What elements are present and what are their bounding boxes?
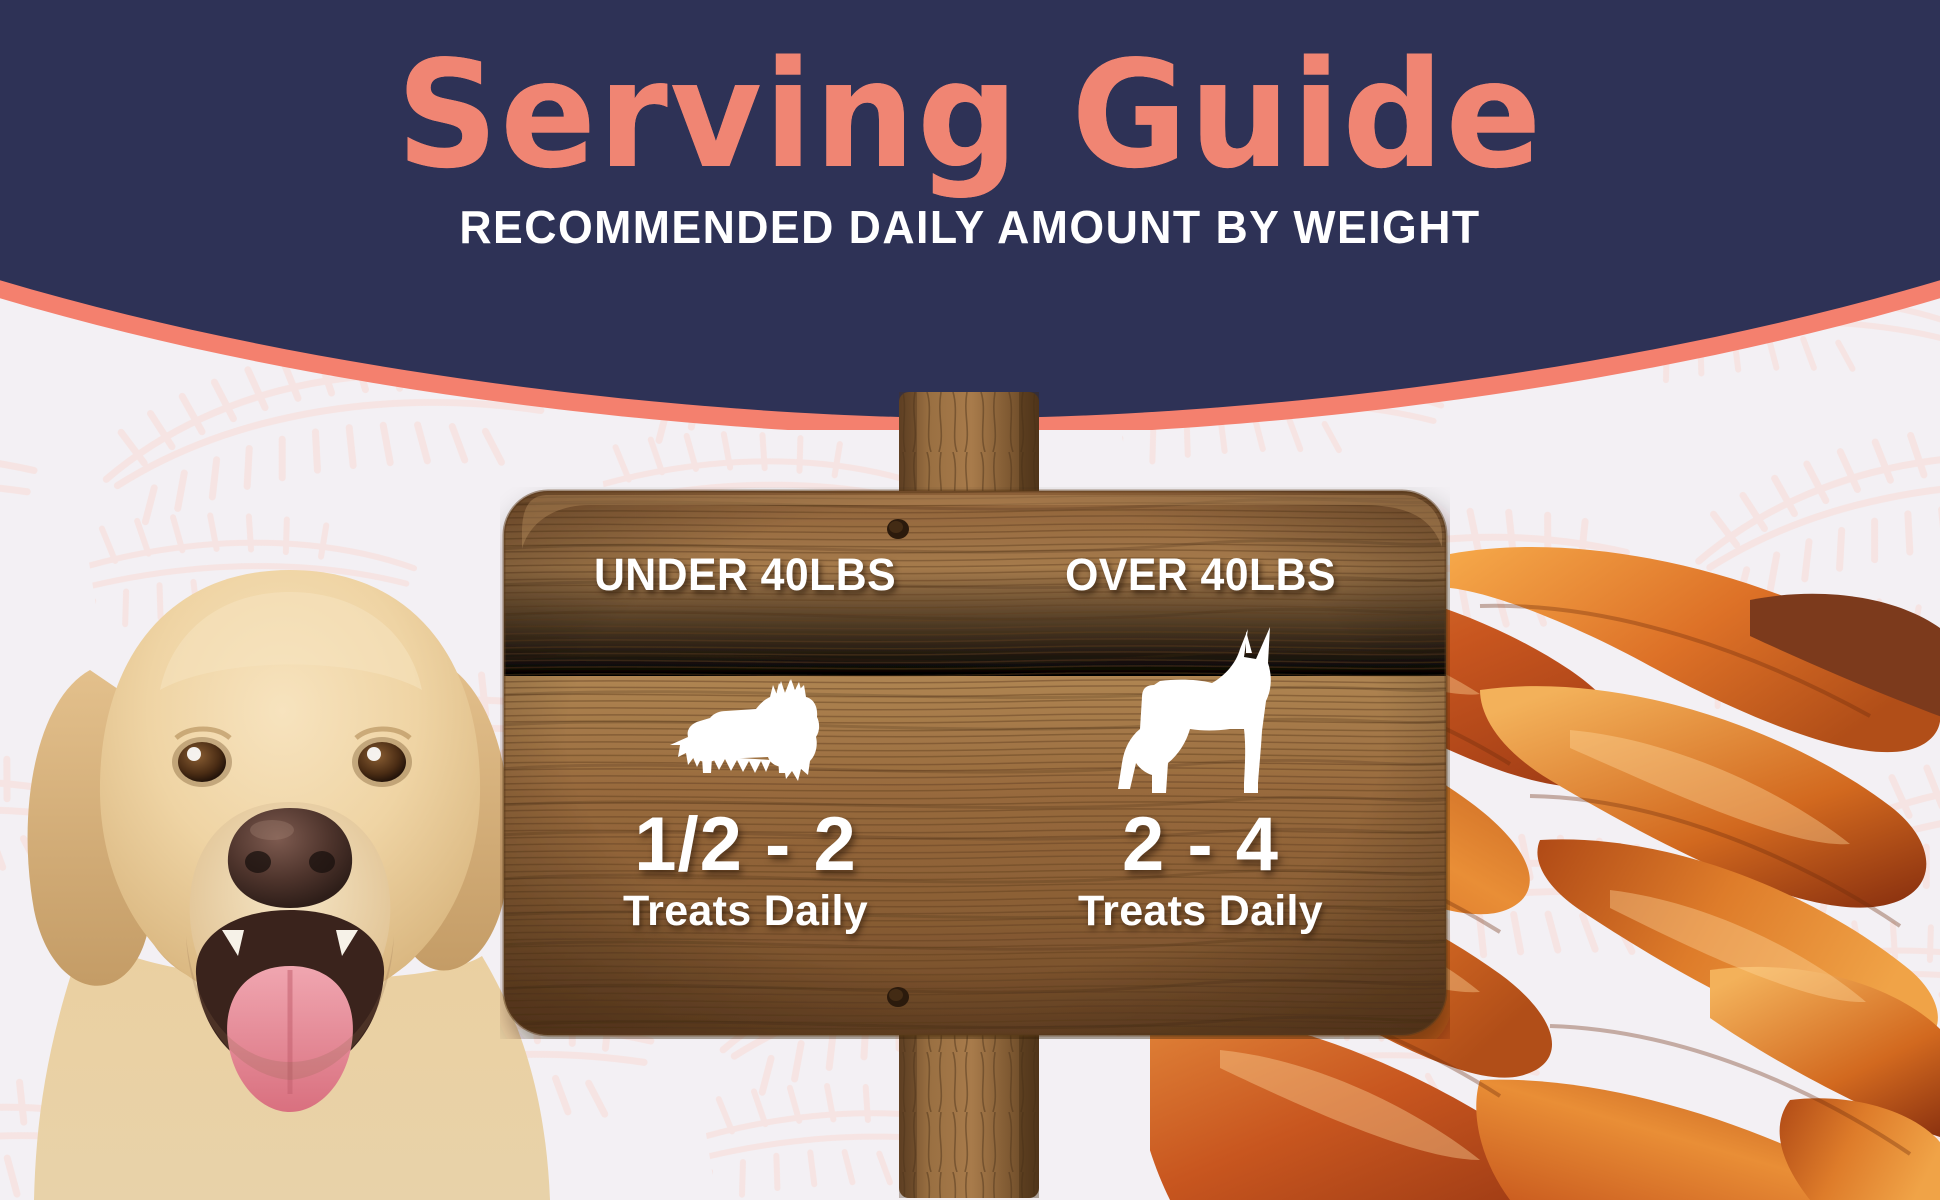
serving-sign-board: UNDER 40LBS [500,487,1450,1039]
serving-guide-poster: UNDER 40LBS [0,0,1940,1200]
amount-caption-under-40lbs: Treats Daily [623,887,868,936]
small-dog-silhouette-icon [658,621,833,801]
page-subtitle: RECOMMENDED DAILY AMOUNT BY WEIGHT [29,200,1911,254]
column-under-40lbs: UNDER 40LBS [500,487,973,1039]
page-title: Serving Guide [0,44,1940,186]
header-text-group: Serving Guide RECOMMENDED DAILY AMOUNT B… [0,0,1940,340]
column-heading-under-40lbs: UNDER 40LBS [594,549,896,601]
column-over-40lbs: OVER 40LBS 2 - 4 Treats Daily [973,487,1450,1039]
board-columns: UNDER 40LBS [500,487,1450,1039]
header-banner-shape [0,0,1940,430]
amount-under-40lbs: 1/2 - 2 [634,807,856,883]
large-dog-silhouette-icon [1116,621,1286,801]
amount-caption-over-40lbs: Treats Daily [1078,887,1323,936]
amount-over-40lbs: 2 - 4 [1122,807,1279,883]
column-heading-over-40lbs: OVER 40LBS [1065,549,1336,601]
